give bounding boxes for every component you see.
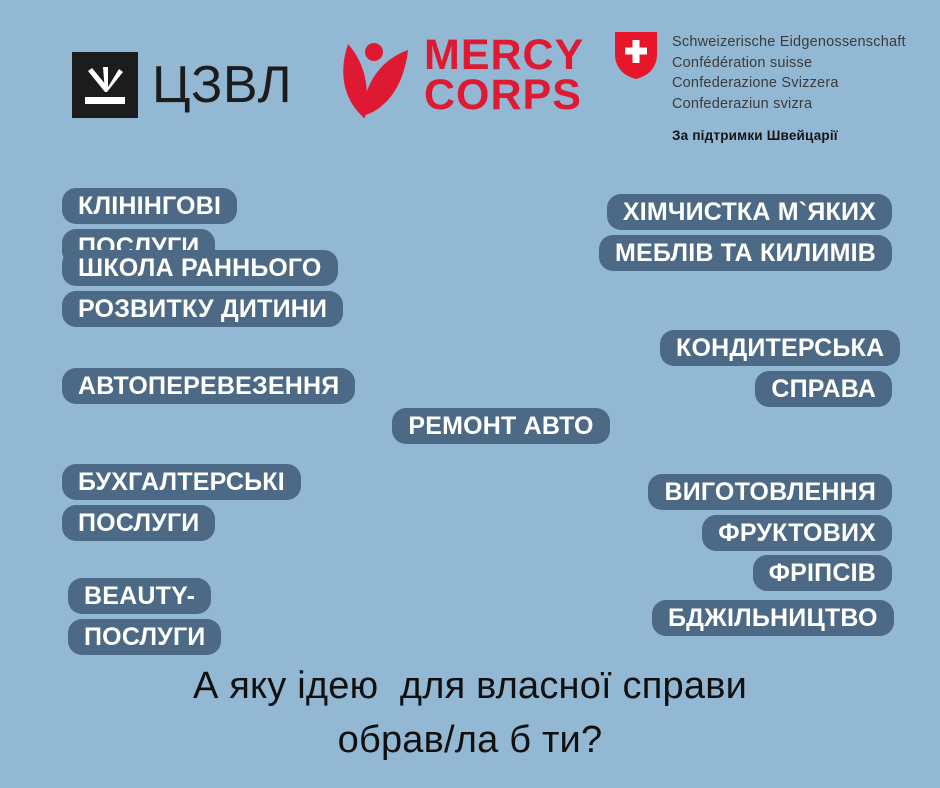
mercy-corps-wordmark: MERCY CORPS [424, 36, 584, 115]
swiss-line-it: Confederazione Svizzera [672, 73, 906, 94]
logo-header: ЦЗВЛ MERCY CORPS Schweizerische Eidgenos… [0, 0, 940, 150]
idea-pill-auto-transport[interactable]: АВТОПЕРЕВЕЗЕННЯ [62, 366, 352, 407]
mercy-corps-logo: MERCY CORPS [334, 30, 584, 122]
mercy-corps-leaf-mark [334, 30, 412, 122]
swiss-line-de: Schweizerische Eidgenossenschaft [672, 32, 906, 53]
swiss-logo-row: Schweizerische Eidgenossenschaft Confédé… [614, 30, 906, 114]
idea-pill-fruit-chips-production[interactable]: ВИГОТОВЛЕННЯ ФРУКТОВИХ ФРІПСІВ [600, 472, 892, 594]
closing-question: А яку ідею для власної справи обрав/ла б… [0, 660, 940, 768]
idea-pill-label: БДЖІЛЬНИЦТВО [652, 600, 894, 636]
swiss-language-lines: Schweizerische Eidgenossenschaft Confédé… [672, 30, 906, 114]
czvl-logo: ЦЗВЛ [72, 52, 292, 118]
idea-pill-confectionery-business[interactable]: КОНДИТЕРСЬКА СПРАВА [660, 328, 892, 409]
idea-pill-label: КОНДИТЕРСЬКА СПРАВА [660, 330, 900, 407]
idea-pill-label: БУХГАЛТЕРСЬКІ ПОСЛУГИ [62, 464, 301, 541]
idea-pill-label: АВТОПЕРЕВЕЗЕННЯ [62, 368, 355, 404]
idea-pill-dry-cleaning-furniture-carpets[interactable]: ХІМЧИСТКА М`ЯКИХ МЕБЛІВ ТА КИЛИМІВ [586, 192, 892, 273]
czvl-wordmark: ЦЗВЛ [152, 59, 292, 111]
idea-pill-accounting-services[interactable]: БУХГАЛТЕРСЬКІ ПОСЛУГИ [62, 462, 302, 543]
swiss-cross-shield [614, 30, 658, 80]
idea-pill-label: РЕМОНТ АВТО [392, 408, 609, 444]
idea-pill-label: BEAUTY- ПОСЛУГИ [68, 578, 221, 655]
czvl-logo-mark [72, 52, 138, 118]
idea-pill-beekeeping[interactable]: БДЖІЛЬНИЦТВО [652, 598, 892, 639]
idea-pill-beauty-services[interactable]: BEAUTY- ПОСЛУГИ [68, 576, 330, 657]
idea-pill-auto-repair[interactable]: РЕМОНТ АВТО [392, 406, 610, 447]
idea-pill-label: ВИГОТОВЛЕННЯ ФРУКТОВИХ ФРІПСІВ [648, 474, 892, 591]
swiss-line-rm: Confederaziun svizra [672, 94, 906, 115]
idea-pill-label: ХІМЧИСТКА М`ЯКИХ МЕБЛІВ ТА КИЛИМІВ [599, 194, 892, 271]
swiss-confederation-logo: Schweizerische Eidgenossenschaft Confédé… [614, 30, 906, 143]
idea-pill-early-child-development-school[interactable]: ШКОЛА РАННЬОГО РОЗВИТКУ ДИТИНИ [62, 248, 350, 329]
swiss-line-fr: Confédération suisse [672, 53, 906, 74]
mercy-line-2: CORPS [424, 76, 584, 116]
idea-pill-label: ШКОЛА РАННЬОГО РОЗВИТКУ ДИТИНИ [62, 250, 343, 327]
swiss-support-tagline: За підтримки Швейцарії [672, 128, 906, 143]
